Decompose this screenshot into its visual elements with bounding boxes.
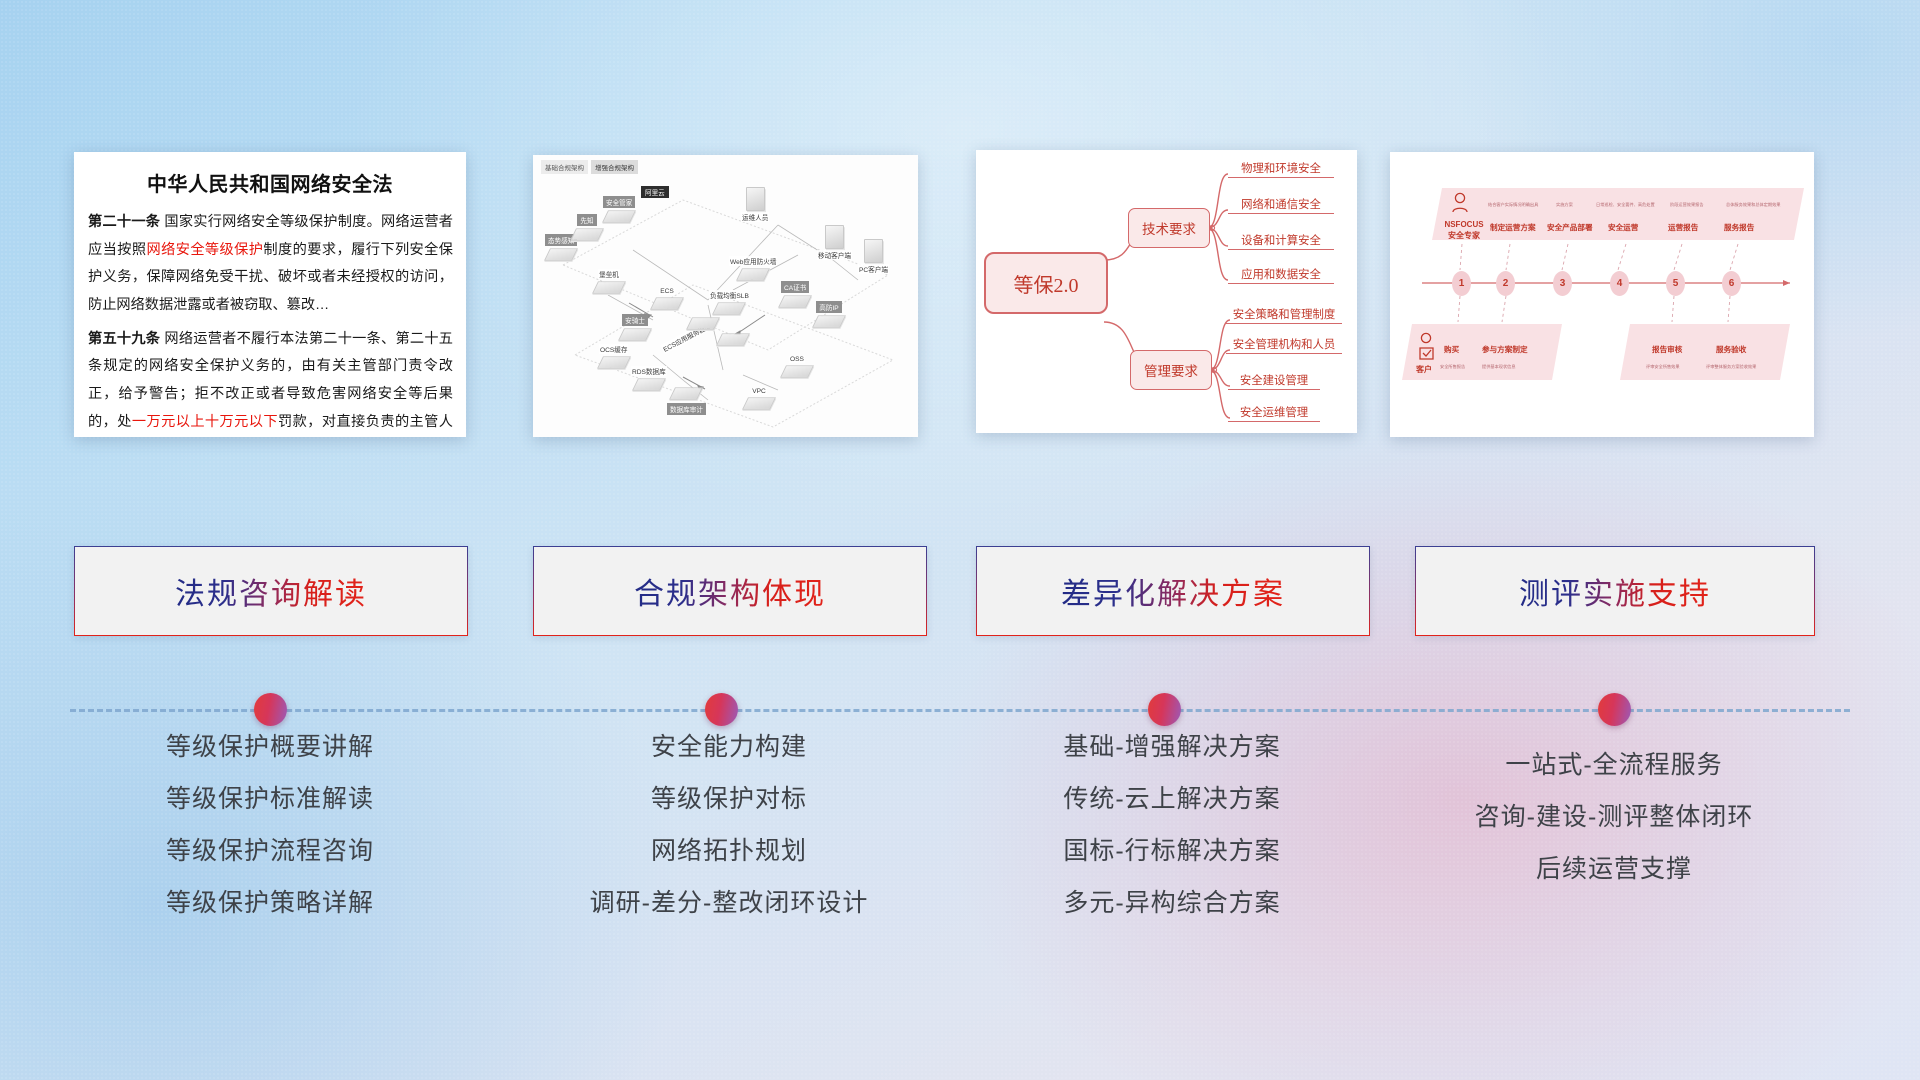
- column-list-1: 等级保护概要讲解 等级保护标准解读 等级保护流程咨询 等级保护策略详解: [74, 735, 466, 943]
- list-item[interactable]: 后续运营支撑: [1415, 857, 1813, 882]
- section-header-1-label: 法规咨询解读: [175, 569, 367, 613]
- timeline-dot-1[interactable]: [254, 693, 287, 726]
- timeline-dot-3[interactable]: [1148, 693, 1181, 726]
- column-list-4: 一站式-全流程服务 咨询-建设-测评整体闭环 后续运营支撑: [1415, 753, 1813, 909]
- timeline-connector: [0, 690, 1920, 730]
- list-item[interactable]: 国标-行标解决方案: [976, 839, 1368, 864]
- list-item[interactable]: 基础-增强解决方案: [976, 735, 1368, 760]
- section-header-2-label: 合规架构体现: [634, 569, 826, 613]
- section-header-2[interactable]: 合规架构体现: [533, 546, 927, 636]
- list-item[interactable]: 等级保护策略详解: [74, 891, 466, 916]
- list-item[interactable]: 咨询-建设-测评整体闭环: [1415, 805, 1813, 830]
- column-list-3: 基础-增强解决方案 传统-云上解决方案 国标-行标解决方案 多元-异构综合方案: [976, 735, 1368, 943]
- section-header-3-label: 差异化解决方案: [1061, 569, 1285, 613]
- list-item[interactable]: 等级保护标准解读: [74, 787, 466, 812]
- list-item[interactable]: 等级保护对标: [533, 787, 925, 812]
- list-item[interactable]: 安全能力构建: [533, 735, 925, 760]
- list-item[interactable]: 等级保护流程咨询: [74, 839, 466, 864]
- list-item[interactable]: 一站式-全流程服务: [1415, 753, 1813, 778]
- timeline-dot-2[interactable]: [705, 693, 738, 726]
- section-header-4-label: 测评实施支持: [1519, 569, 1711, 613]
- timeline-dashed-line: [70, 709, 1850, 712]
- list-item[interactable]: 多元-异构综合方案: [976, 891, 1368, 916]
- timeline-dot-4[interactable]: [1598, 693, 1631, 726]
- list-item[interactable]: 网络拓扑规划: [533, 839, 925, 864]
- column-list-2: 安全能力构建 等级保护对标 网络拓扑规划 调研-差分-整改闭环设计: [533, 735, 925, 943]
- section-header-3[interactable]: 差异化解决方案: [976, 546, 1370, 636]
- section-header-4[interactable]: 测评实施支持: [1415, 546, 1815, 636]
- list-item[interactable]: 传统-云上解决方案: [976, 787, 1368, 812]
- section-header-1[interactable]: 法规咨询解读: [74, 546, 468, 636]
- list-item[interactable]: 调研-差分-整改闭环设计: [533, 891, 925, 916]
- list-item[interactable]: 等级保护概要讲解: [74, 735, 466, 760]
